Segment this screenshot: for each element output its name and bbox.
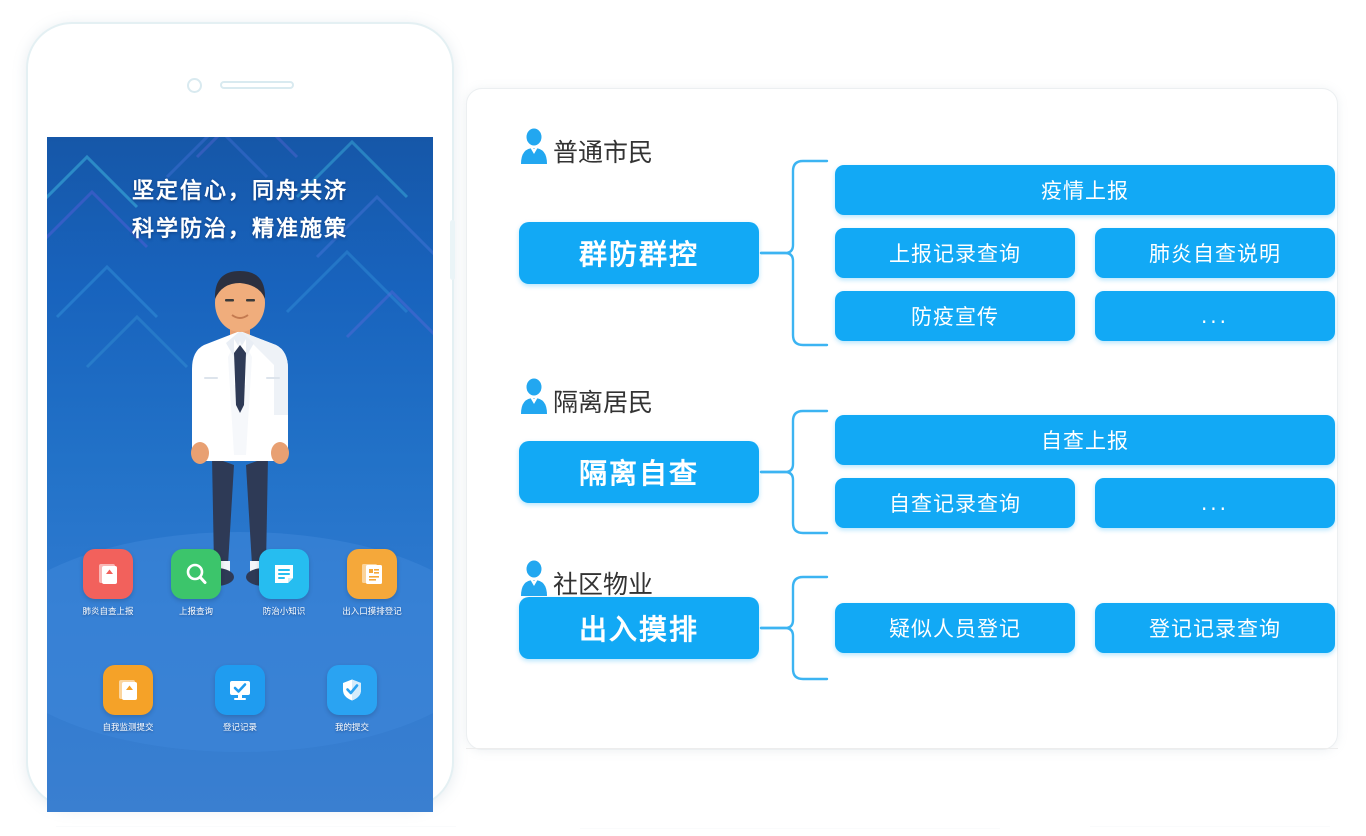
- leaf-button-stack: 自查上报 自查记录查询 ...: [835, 415, 1335, 528]
- module-row: 群防群控 疫情上报 上报记录查询 肺炎自查说明 防疫宣传 ...: [487, 165, 1335, 341]
- leaf-button-fang-yi-xuan-chuan[interactable]: 防疫宣传: [835, 291, 1075, 341]
- leaf-button-shang-bao-ji-lu-cha-xun[interactable]: 上报记录查询: [835, 228, 1075, 278]
- app-label: 自我监测提交: [102, 723, 153, 734]
- leaf-button-more[interactable]: ...: [1095, 478, 1335, 528]
- leaf-row: 自查上报: [835, 415, 1335, 465]
- leaf-button-zi-cha-ji-lu-cha-xun[interactable]: 自查记录查询: [835, 478, 1075, 528]
- app-icon-deng-ji-ji-lu[interactable]: 登记记录: [209, 665, 271, 734]
- app-icon-row-1: 肺炎自查上报 上报查询: [47, 549, 433, 618]
- shield-check-icon: [327, 665, 377, 715]
- role-group-quarantined-resident: 隔离居民 隔离自查 自查上报 自查记录查询 ...: [487, 359, 1335, 528]
- role-group-ordinary-citizen: 普通市民 群防群控 疫情上报 上报记录查询 肺炎自查说明 防疫宣传: [487, 109, 1335, 341]
- phone-side-button: [450, 220, 455, 280]
- function-structure-panel: 普通市民 群防群控 疫情上报 上报记录查询 肺炎自查说明 防疫宣传: [466, 88, 1338, 750]
- app-icon-wo-de-ti-jiao[interactable]: 我的提交: [321, 665, 383, 734]
- role-header: 隔离居民: [487, 359, 1335, 415]
- app-label: 登记记录: [223, 723, 257, 734]
- app-label: 防治小知识: [263, 607, 306, 618]
- banner-line-1: 坚定信心，同舟共济: [47, 173, 433, 211]
- app-icon-fang-zhi-xiao-zhi-shi[interactable]: 防治小知识: [253, 549, 315, 618]
- app-label: 上报查询: [179, 607, 213, 618]
- bottom-rule-left: [56, 826, 456, 827]
- module-row: 隔离自查 自查上报 自查记录查询 ...: [487, 415, 1335, 528]
- module-button-chu-ru-mo-pai[interactable]: 出入摸排: [519, 597, 759, 659]
- leaf-button-stack: 疑似人员登记 登记记录查询: [835, 603, 1335, 653]
- role-group-community-property: 社区物业 出入摸排 疑似人员登记 登记记录查询: [487, 541, 1335, 659]
- app-label: 出入口摸排登记: [342, 607, 402, 618]
- person-icon: [519, 127, 549, 165]
- role-title: 社区物业: [553, 570, 653, 600]
- leaf-row: 自查记录查询 ...: [835, 478, 1335, 528]
- leaf-row: 疫情上报: [835, 165, 1335, 215]
- banner-line-2: 科学防治，精准施策: [47, 211, 433, 249]
- registry-book-icon: [347, 549, 397, 599]
- note-lines-icon: [259, 549, 309, 599]
- magnifier-icon: [171, 549, 221, 599]
- front-camera-icon: [187, 78, 202, 93]
- role-title: 普通市民: [553, 138, 653, 168]
- leaf-button-deng-ji-ji-lu-cha-xun[interactable]: 登记记录查询: [1095, 603, 1335, 653]
- leaf-row: 上报记录查询 肺炎自查说明: [835, 228, 1335, 278]
- role-header: 普通市民: [487, 109, 1335, 165]
- app-label: 肺炎自查上报: [82, 607, 133, 618]
- person-icon: [519, 377, 549, 415]
- person-icon: [519, 559, 549, 597]
- bottom-rule-right: [1090, 826, 1330, 827]
- leaf-button-fei-yan-zi-cha-shuo-ming[interactable]: 肺炎自查说明: [1095, 228, 1335, 278]
- bottom-rule-middle: [580, 828, 1000, 829]
- app-icon-fei-yan-zi-cha-shang-bao[interactable]: 肺炎自查上报: [77, 549, 139, 618]
- app-icon-shang-bao-cha-xun[interactable]: 上报查询: [165, 549, 227, 618]
- upload-document-icon: [83, 549, 133, 599]
- module-row: 出入摸排 疑似人员登记 登记记录查询: [487, 597, 1335, 659]
- upload-document-icon: [103, 665, 153, 715]
- app-icon-chu-ru-kou-mo-pai-deng-ji[interactable]: 出入口摸排登记: [341, 549, 403, 618]
- role-header: 社区物业: [487, 541, 1335, 597]
- phone-screen: 坚定信心，同舟共济 科学防治，精准施策: [47, 137, 433, 812]
- app-icon-zi-wo-jian-ce-ti-jiao[interactable]: 自我监测提交: [97, 665, 159, 734]
- leaf-button-zi-cha-shang-bao[interactable]: 自查上报: [835, 415, 1335, 465]
- leaf-button-yi-qing-shang-bao[interactable]: 疫情上报: [835, 165, 1335, 215]
- role-title: 隔离居民: [553, 388, 653, 418]
- earpiece-speaker-icon: [220, 81, 294, 89]
- phone-top-hardware: [28, 76, 452, 94]
- leaf-row: 疑似人员登记 登记记录查询: [835, 603, 1335, 653]
- module-button-qun-fang-qun-kong[interactable]: 群防群控: [519, 222, 759, 284]
- app-label: 我的提交: [335, 723, 369, 734]
- leaf-button-more[interactable]: ...: [1095, 291, 1335, 341]
- leaf-button-stack: 疫情上报 上报记录查询 肺炎自查说明 防疫宣传 ...: [835, 165, 1335, 341]
- leaf-row: 防疫宣传 ...: [835, 291, 1335, 341]
- module-button-ge-li-zi-cha[interactable]: 隔离自查: [519, 441, 759, 503]
- leaf-button-yi-si-ren-yuan-deng-ji[interactable]: 疑似人员登记: [835, 603, 1075, 653]
- phone-mockup: 坚定信心，同舟共济 科学防治，精准施策: [26, 22, 454, 808]
- phone-banner-slogan: 坚定信心，同舟共济 科学防治，精准施策: [47, 173, 433, 249]
- monitor-check-icon: [215, 665, 265, 715]
- app-icon-row-2: 自我监测提交 登记记录: [47, 665, 433, 734]
- panel-bottom-divider: [466, 748, 1338, 749]
